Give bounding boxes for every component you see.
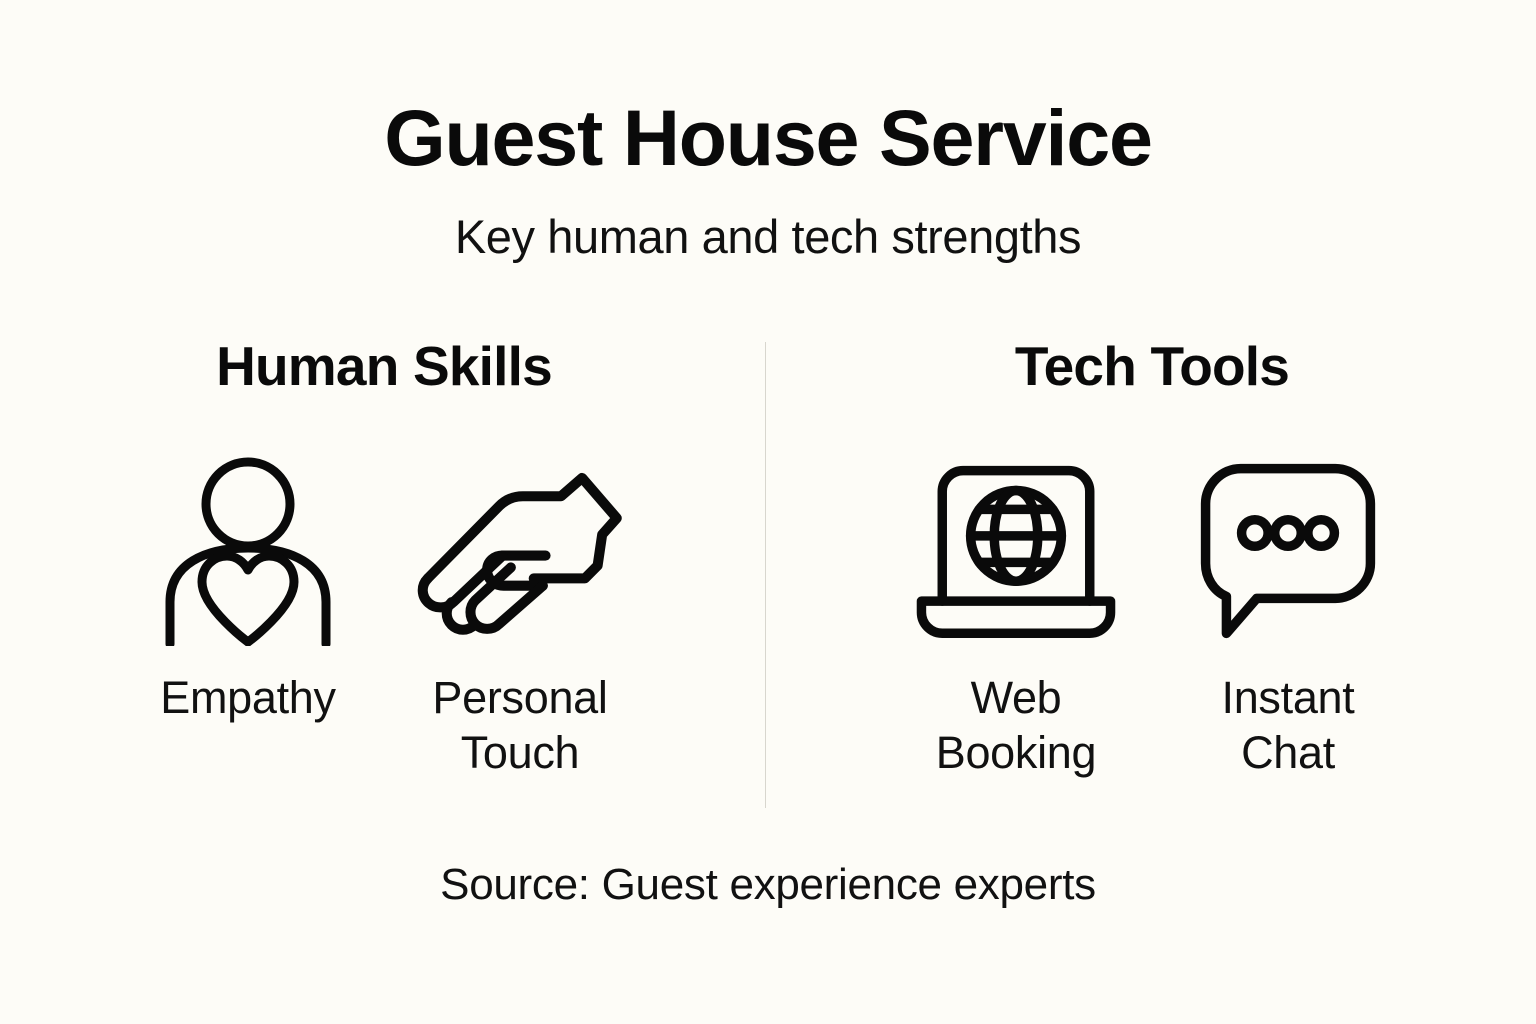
item-label-personal-touch: Personal Touch [432, 671, 607, 781]
item-instant-chat: Instant Chat [1178, 458, 1398, 781]
handshake-icon [415, 458, 625, 643]
infographic-canvas: Guest House Service Key human and tech s… [0, 0, 1536, 1024]
column-title-tech-tools: Tech Tools [1015, 336, 1289, 396]
person-heart-icon [143, 458, 353, 643]
page-title: Guest House Service [0, 98, 1536, 177]
item-label-web-booking: Web Booking [936, 671, 1097, 781]
column-tech-tools: Tech Tools Web Book [768, 336, 1536, 781]
header: Guest House Service Key human and tech s… [0, 98, 1536, 260]
laptop-globe-icon [911, 458, 1121, 643]
columns-container: Human Skills Empathy [0, 336, 1536, 781]
column-title-human-skills: Human Skills [216, 336, 552, 396]
page-subtitle: Key human and tech strengths [0, 213, 1536, 260]
chat-bubble-icon [1183, 458, 1393, 643]
items-tech-tools: Web Booking Instant Chat [906, 458, 1398, 781]
item-empathy: Empathy [138, 458, 358, 781]
source-note: Source: Guest experience experts [0, 860, 1536, 910]
item-label-empathy: Empathy [160, 671, 335, 726]
item-personal-touch: Personal Touch [410, 458, 630, 781]
column-human-skills: Human Skills Empathy [0, 336, 768, 781]
item-label-instant-chat: Instant Chat [1222, 671, 1355, 781]
item-web-booking: Web Booking [906, 458, 1126, 781]
items-human-skills: Empathy Personal Touch [138, 458, 630, 781]
